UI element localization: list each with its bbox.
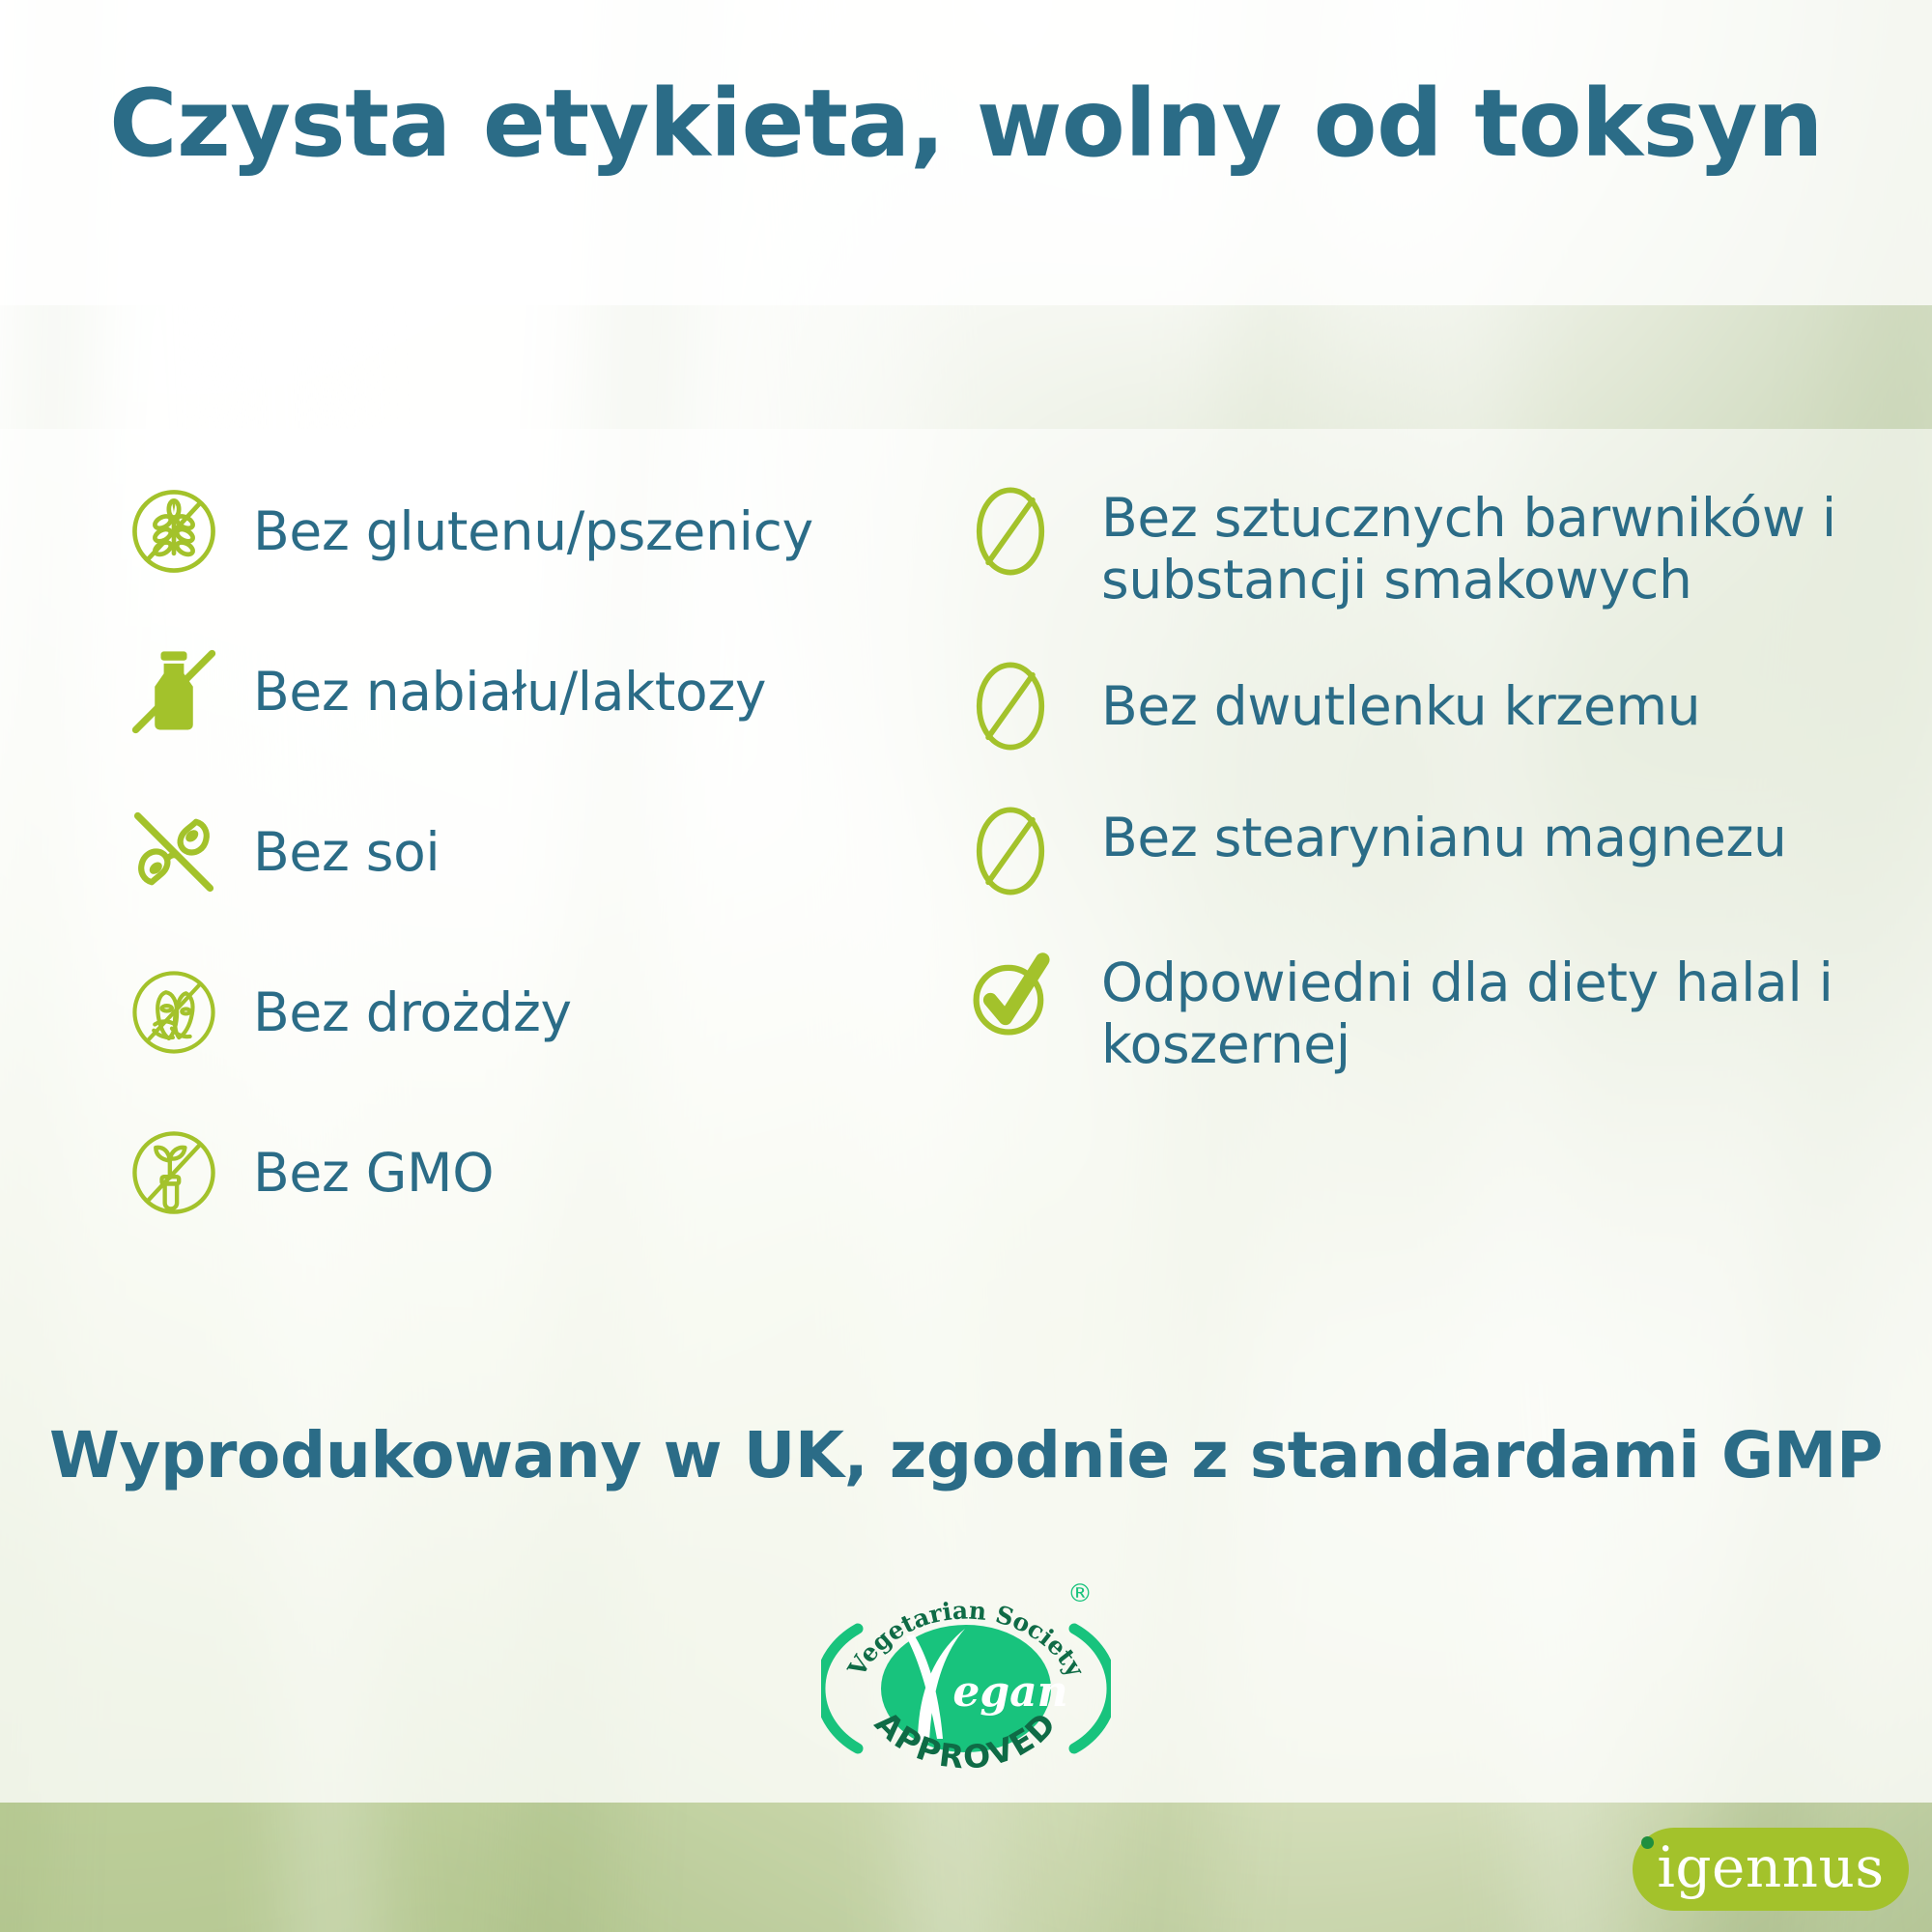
no-dairy-bottle-icon	[124, 641, 224, 742]
feature-column-left: Bez glutenu/pszenicy Bez nabi	[0, 481, 908, 1223]
feature-label: Odpowiedni dla diety halal i koszernej	[1101, 946, 1932, 1076]
no-soy-icon	[124, 802, 224, 902]
registered-trademark-icon: ®	[1067, 1579, 1093, 1608]
infographic-canvas: Czysta etykieta, wolny od toksyn	[0, 0, 1932, 1932]
no-gluten-wheat-icon	[124, 481, 224, 582]
prohibition-icon	[960, 801, 1061, 901]
vegan-badge-center-text: egan	[952, 1667, 1067, 1717]
feature-label: Bez sztucznych barwników i substancji sm…	[1101, 481, 1932, 611]
check-circle-icon	[960, 946, 1061, 1046]
feature-item-no-silicon-dioxide: Bez dwutlenku krzemu	[960, 656, 1932, 756]
no-yeast-icon	[124, 962, 224, 1063]
page-title: Czysta etykieta, wolny od toksyn	[0, 70, 1932, 178]
brand-dot-icon	[1641, 1836, 1654, 1849]
vegetarian-society-vegan-approved-badge: egan Vegetarian Society ® APPROVED	[821, 1559, 1111, 1801]
feature-label: Bez dwutlenku krzemu	[1101, 656, 1700, 737]
brand-name: igennus	[1657, 1839, 1884, 1899]
feature-item-no-yeast: Bez drożdży	[124, 962, 908, 1063]
prohibition-icon	[960, 656, 1061, 756]
manufacturing-statement: Wyprodukowany w UK, zgodnie z standardam…	[0, 1418, 1932, 1492]
feature-item-no-magnesium-stearate: Bez stearynianu magnezu	[960, 801, 1932, 901]
feature-label: Bez stearynianu magnezu	[1101, 801, 1787, 868]
feature-label: Bez drożdży	[253, 962, 572, 1043]
no-gmo-icon	[124, 1122, 224, 1223]
feature-item-no-artificial-colours: Bez sztucznych barwników i substancji sm…	[960, 481, 1932, 611]
feature-item-halal-kosher: Odpowiedni dla diety halal i koszernej	[960, 946, 1932, 1076]
feature-item-no-dairy: Bez nabiału/laktozy	[124, 641, 908, 742]
feature-item-no-gluten: Bez glutenu/pszenicy	[124, 481, 908, 582]
prohibition-icon	[960, 481, 1061, 582]
feature-label: Bez GMO	[253, 1122, 494, 1204]
feature-item-no-soy: Bez soi	[124, 802, 908, 902]
feature-label: Bez glutenu/pszenicy	[253, 481, 813, 562]
brand-logo-igennus[interactable]: igennus	[1633, 1828, 1909, 1911]
feature-item-no-gmo: Bez GMO	[124, 1122, 908, 1223]
feature-column-right: Bez sztucznych barwników i substancji sm…	[908, 481, 1932, 1223]
feature-list: Bez glutenu/pszenicy Bez nabi	[0, 481, 1932, 1223]
content-layer: Czysta etykieta, wolny od toksyn	[0, 0, 1932, 1932]
feature-label: Bez soi	[253, 802, 440, 883]
feature-label: Bez nabiału/laktozy	[253, 641, 766, 723]
